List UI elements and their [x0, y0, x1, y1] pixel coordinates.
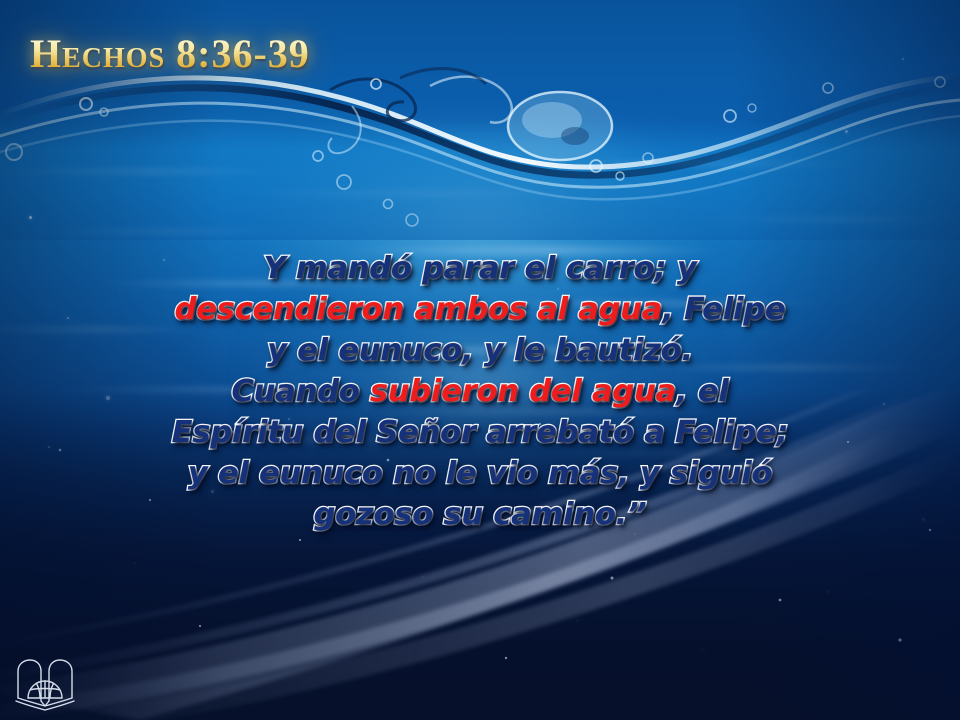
open-bible-globe-logo-icon [14, 654, 76, 712]
verse-line-7: gozoso su camino.” [0, 494, 960, 535]
verse-span-emphasis: descendieron ambos al agua [175, 292, 663, 327]
verse-span: , Felipe [662, 292, 785, 327]
verse-span: Y mandó parar el carro; y [263, 251, 696, 286]
verse-span: gozoso su camino.” [314, 497, 647, 532]
slide-canvas: Hechos 8:36-39 Y mandó parar el carro; y… [0, 0, 960, 720]
verse-span: y el eunuco no le vio más, y siguió [188, 456, 772, 491]
verse-span: y el eunuco, y le bautizó. [267, 333, 693, 368]
verse-line-5: Espíritu del Señor arrebató a Felipe; [0, 412, 960, 453]
verse-text-block: Y mandó parar el carro; y descendieron a… [0, 248, 960, 535]
verse-line-1: Y mandó parar el carro; y [0, 248, 960, 289]
verse-line-3: y el eunuco, y le bautizó. [0, 330, 960, 371]
verse-line-6: y el eunuco no le vio más, y siguió [0, 453, 960, 494]
verse-line-2: descendieron ambos al agua, Felipe [0, 289, 960, 330]
verse-span: , el [676, 374, 729, 409]
verse-line-4: Cuando subieron del agua, el [0, 371, 960, 412]
verse-span: Espíritu del Señor arrebató a Felipe; [172, 415, 789, 450]
verse-span: Cuando [231, 374, 369, 409]
page-title: Hechos 8:36-39 [30, 34, 310, 74]
verse-span-emphasis: subieron del agua [370, 374, 676, 409]
